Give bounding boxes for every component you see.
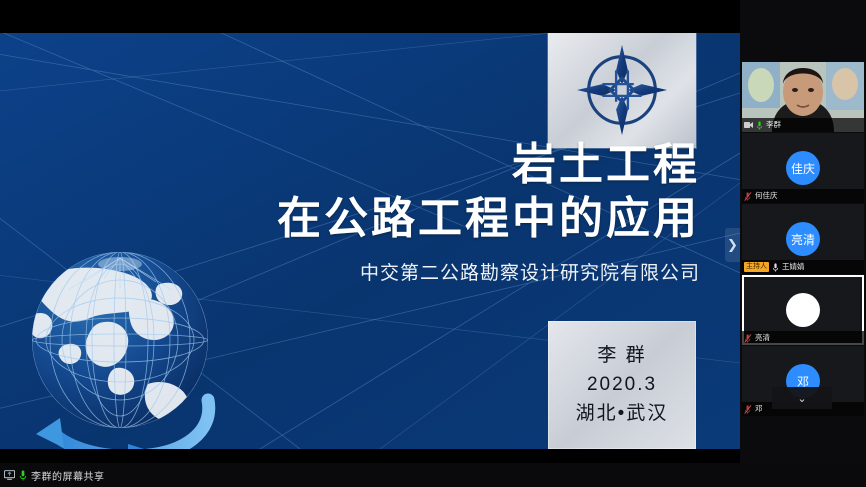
participant-name: 王婧婧 [782, 262, 805, 272]
scroll-down-button[interactable]: ⌄ [772, 387, 832, 409]
share-status-text: 李群的屏幕共享 [31, 468, 105, 483]
collapse-panel-button[interactable]: ❯ [725, 228, 740, 262]
participant-video-strip[interactable]: 李群 佳庆 何佳庆 亮清 主持人 [740, 0, 866, 463]
chevron-down-icon: ⌄ [797, 392, 806, 405]
microphone-muted-icon [744, 405, 752, 414]
participant-name-bar: 主持人 王婧婧 [742, 260, 864, 274]
participant-tile[interactable]: 李群 [742, 62, 864, 132]
microphone-on-icon [756, 121, 763, 130]
avatar [786, 293, 820, 327]
status-bar: 李群的屏幕共享 [0, 463, 866, 487]
participant-name: 亮清 [755, 333, 770, 343]
zoom-meeting-window: 岩土工程 在公路工程中的应用 中交第二公路勘察设计研究院有限公司 李 群 202… [0, 0, 866, 487]
slide-title-line-1: 岩土工程 [40, 138, 700, 192]
microphone-icon [19, 470, 27, 481]
participant-name: 邓 [755, 404, 763, 414]
presentation-slide: 岩土工程 在公路工程中的应用 中交第二公路勘察设计研究院有限公司 李 群 202… [0, 33, 740, 449]
participant-tile-host[interactable]: 亮清 [742, 275, 864, 345]
participant-tile[interactable]: 佳庆 何佳庆 [742, 133, 864, 203]
microphone-muted-icon [744, 192, 752, 201]
slide-title-line-2: 在公路工程中的应用 [40, 192, 700, 246]
participant-name-bar: 李群 [742, 118, 864, 132]
presentation-location: 湖北•武汉 [576, 402, 669, 426]
participant-name: 李群 [766, 120, 781, 130]
slide-title-block: 岩土工程 在公路工程中的应用 中交第二公路勘察设计研究院有限公司 [40, 138, 700, 285]
video-on-icon [744, 121, 753, 129]
avatar: 亮清 [786, 222, 820, 256]
presentation-date: 2020.3 [587, 373, 657, 397]
screen-share-icon [4, 470, 15, 480]
microphone-on-icon [772, 263, 779, 272]
participant-name: 何佳庆 [755, 191, 778, 201]
participant-name-bar: 亮清 [742, 331, 864, 345]
avatar: 佳庆 [786, 151, 820, 185]
chevron-right-icon: ❯ [727, 237, 738, 253]
microphone-muted-icon [744, 334, 752, 343]
shared-screen-region[interactable]: 岩土工程 在公路工程中的应用 中交第二公路勘察设计研究院有限公司 李 群 202… [0, 0, 740, 463]
author-name: 李 群 [597, 344, 646, 368]
cccc-compass-logo-icon [573, 41, 671, 139]
slide-subtitle: 中交第二公路勘察设计研究院有限公司 [40, 258, 700, 285]
company-logo-plaque [548, 33, 696, 148]
author-info-panel: 李 群 2020.3 湖北•武汉 [548, 321, 696, 449]
participant-name-bar: 何佳庆 [742, 189, 864, 203]
host-badge: 主持人 [744, 262, 769, 272]
participant-tile[interactable]: 亮清 主持人 王婧婧 [742, 204, 864, 274]
